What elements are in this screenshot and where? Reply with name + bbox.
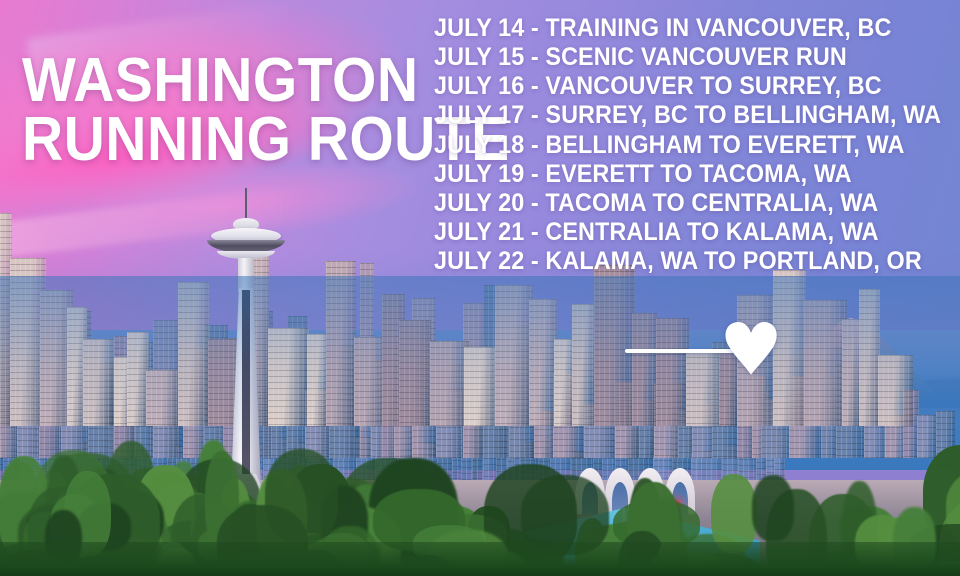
building-windows (326, 261, 356, 426)
building-windows (495, 285, 534, 426)
page-title: WASHINGTON RUNNING ROUTE (22, 52, 442, 170)
building (842, 319, 861, 426)
building-windows (554, 339, 574, 426)
building-windows (804, 300, 847, 426)
building (804, 300, 847, 426)
building-windows (594, 265, 635, 426)
poster: WASHINGTON RUNNING ROUTE JULY 14 - TRAIN… (0, 0, 960, 576)
building-windows (430, 341, 469, 426)
building (83, 339, 114, 426)
tree-canopy-base (0, 542, 960, 576)
building (430, 341, 469, 426)
building-windows (572, 304, 594, 426)
building (878, 355, 913, 426)
schedule-item: JULY 15 - SCENIC VANCOUVER RUN (434, 43, 941, 72)
heart-icon (722, 320, 780, 376)
building-windows (83, 339, 114, 426)
building (354, 337, 386, 426)
schedule-item: JULY 17 - SURREY, BC TO BELLINGHAM, WA (434, 101, 941, 130)
schedule-item: JULY 14 - TRAINING IN VANCOUVER, BC (434, 14, 941, 43)
building-windows (686, 351, 724, 426)
building (632, 313, 657, 426)
horizontal-rule (625, 349, 735, 353)
building (656, 318, 689, 426)
building (399, 320, 431, 426)
building (326, 261, 356, 426)
building (307, 334, 328, 426)
building-windows (632, 313, 657, 426)
needle-neck (238, 258, 254, 292)
foreground-trees (0, 426, 960, 576)
building (686, 351, 724, 426)
building (572, 304, 594, 426)
building (495, 285, 534, 426)
building-windows (878, 355, 913, 426)
schedule-list: JULY 14 - TRAINING IN VANCOUVER, BC JULY… (434, 14, 960, 276)
title-line-1: WASHINGTON (22, 52, 408, 111)
tree (752, 475, 794, 541)
building-windows (354, 337, 386, 426)
schedule-item: JULY 18 - BELLINGHAM TO EVERETT, WA (434, 131, 941, 160)
schedule-item: JULY 19 - EVERETT TO TACOMA, WA (434, 160, 941, 189)
schedule-item: JULY 20 - TACOMA TO CENTRALIA, WA (434, 189, 941, 218)
building-windows (842, 319, 861, 426)
needle-antenna (245, 188, 247, 222)
schedule-item: JULY 22 - KALAMA, WA TO PORTLAND, OR (434, 247, 941, 276)
building (594, 265, 635, 426)
building-windows (307, 334, 328, 426)
building-windows (656, 318, 689, 426)
building-windows (399, 320, 431, 426)
schedule-item: JULY 16 - VANCOUVER TO SURREY, BC (434, 72, 941, 101)
title-line-2: RUNNING ROUTE (22, 111, 408, 170)
building (554, 339, 574, 426)
schedule-item: JULY 21 - CENTRALIA TO KALAMA, WA (434, 218, 941, 247)
